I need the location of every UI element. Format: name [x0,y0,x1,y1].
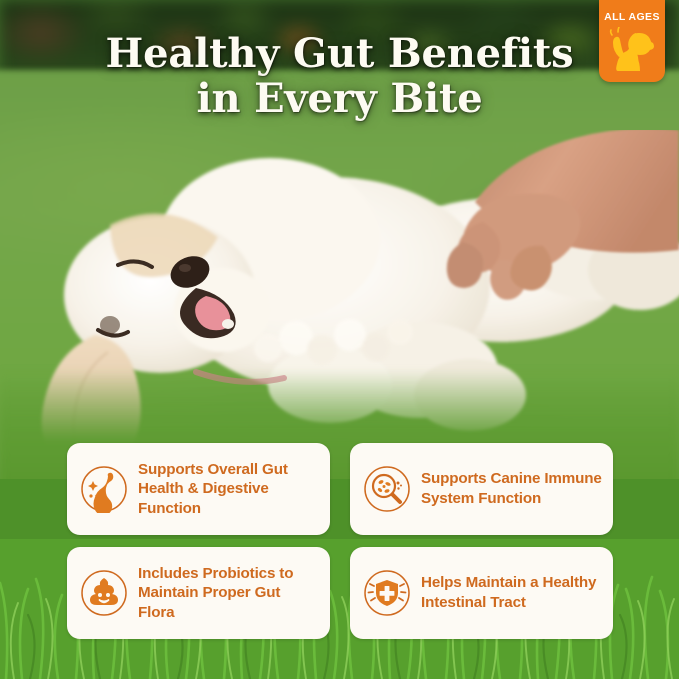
benefit-card-intestinal-tract: Helps Maintain a Healthy Intestinal Trac… [350,547,613,639]
benefit-card-immune-system: Supports Canine Immune System Function [350,443,613,535]
benefit-card-text: Supports Overall Gut Health & Digestive … [138,460,320,519]
all-ages-badge: ALL AGES [599,0,665,82]
all-ages-badge-label: ALL AGES [604,12,660,23]
stomach-icon [79,464,129,514]
magnifier-microbes-icon [362,464,412,514]
benefit-card-text: Includes Probiotics to Maintain Proper G… [138,564,320,623]
headline-line-1: Healthy Gut Benefits [60,32,619,77]
benefit-card-text: Supports Canine Immune System Function [421,469,603,508]
smiling-poop-icon [79,568,129,618]
benefit-card-probiotics: Includes Probiotics to Maintain Proper G… [67,547,330,639]
sitting-dog-icon [609,27,655,71]
page-title: Healthy Gut Benefits in Every Bite [0,32,679,122]
shield-plus-icon [362,568,412,618]
human-arm [379,130,679,360]
benefit-cards-grid: Supports Overall Gut Health & Digestive … [67,443,613,639]
product-benefits-poster: Healthy Gut Benefits in Every Bite ALL A… [0,0,679,679]
benefit-card-text: Helps Maintain a Healthy Intestinal Trac… [421,573,603,612]
headline-line-2: in Every Bite [60,77,619,122]
benefit-card-gut-health: Supports Overall Gut Health & Digestive … [67,443,330,535]
